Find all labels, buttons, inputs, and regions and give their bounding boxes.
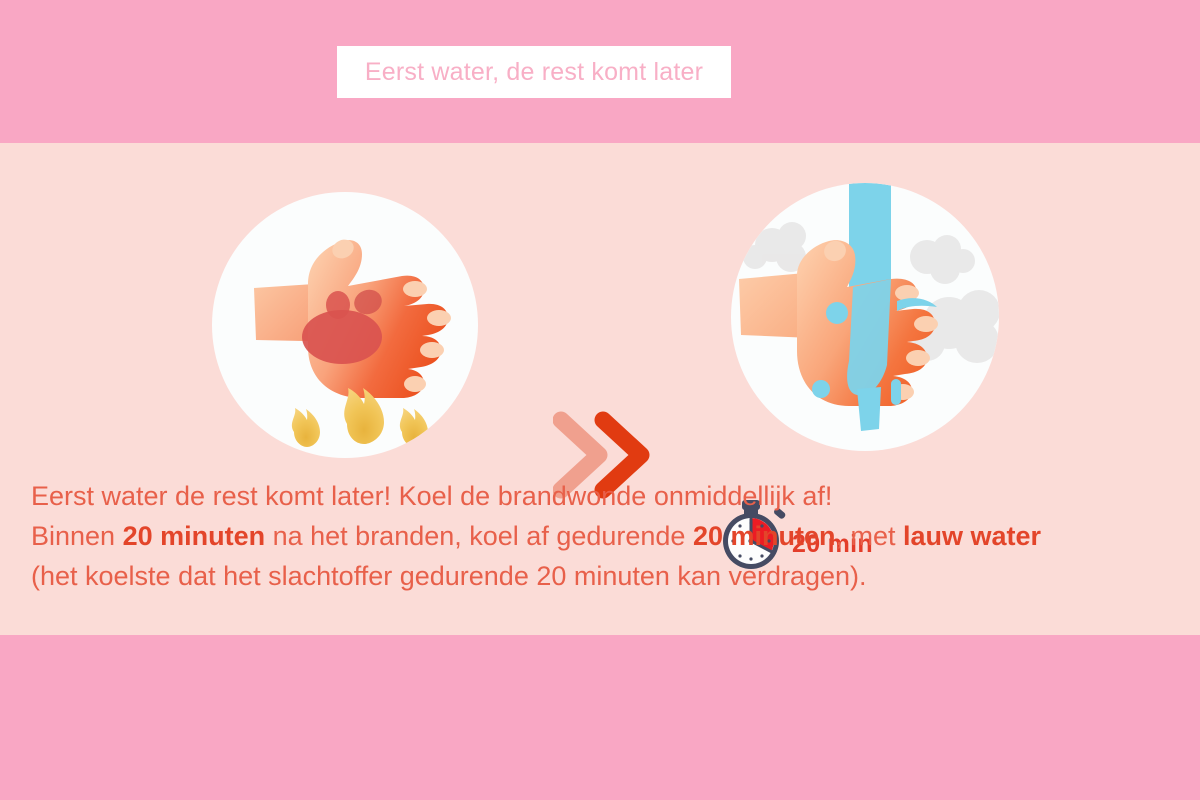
burn-first-aid-poster: Eerst water, de rest komt later — [0, 0, 1200, 800]
plain-text: Binnen — [31, 521, 123, 551]
middle-tip — [914, 316, 938, 332]
cooling-hand-svg — [731, 183, 999, 451]
index-tip — [403, 281, 427, 297]
instruction-line: (het koelste dat het slachtoffer geduren… — [31, 556, 1171, 596]
plain-text: , met — [835, 521, 903, 551]
illustration-row: 20 min — [0, 143, 1200, 463]
steam-puff-right — [910, 235, 975, 284]
water-droplet-large — [826, 302, 848, 324]
water-drip — [891, 379, 901, 405]
ring-tip — [420, 342, 444, 358]
burned-hand-svg — [212, 192, 478, 458]
plain-text: Eerst water de rest komt later! Koel de … — [31, 481, 832, 511]
instruction-text: Eerst water de rest komt later! Koel de … — [31, 476, 1171, 596]
content-panel: 20 min Eerst water de rest komt later! K… — [0, 143, 1200, 635]
title-band: Eerst water, de rest komt later — [0, 0, 1200, 143]
title-box: Eerst water, de rest komt later — [337, 46, 731, 98]
emphasis-text: 20 minuten — [693, 521, 836, 551]
cooling-hand-illustration — [731, 183, 999, 451]
water-stream-lower — [857, 387, 881, 431]
instruction-line: Eerst water de rest komt later! Koel de … — [31, 476, 1171, 516]
pinky-tip — [404, 376, 426, 392]
emphasis-text: lauw water — [903, 521, 1041, 551]
middle-tip — [427, 310, 451, 326]
steam-puff-left — [743, 222, 806, 272]
plain-text: na het branden, koel af gedurende — [265, 521, 693, 551]
burned-hand-illustration — [212, 192, 478, 458]
flame-right — [400, 408, 428, 447]
flame-left — [292, 408, 320, 447]
instruction-line: Binnen 20 minuten na het branden, koel a… — [31, 516, 1171, 556]
emphasis-text: 20 minuten — [123, 521, 266, 551]
water-droplet-small — [812, 380, 830, 398]
page-title: Eerst water, de rest komt later — [365, 58, 703, 87]
burn-wound-blister-1 — [326, 291, 350, 319]
ring-tip — [906, 350, 930, 366]
plain-text: (het koelste dat het slachtoffer geduren… — [31, 561, 867, 591]
